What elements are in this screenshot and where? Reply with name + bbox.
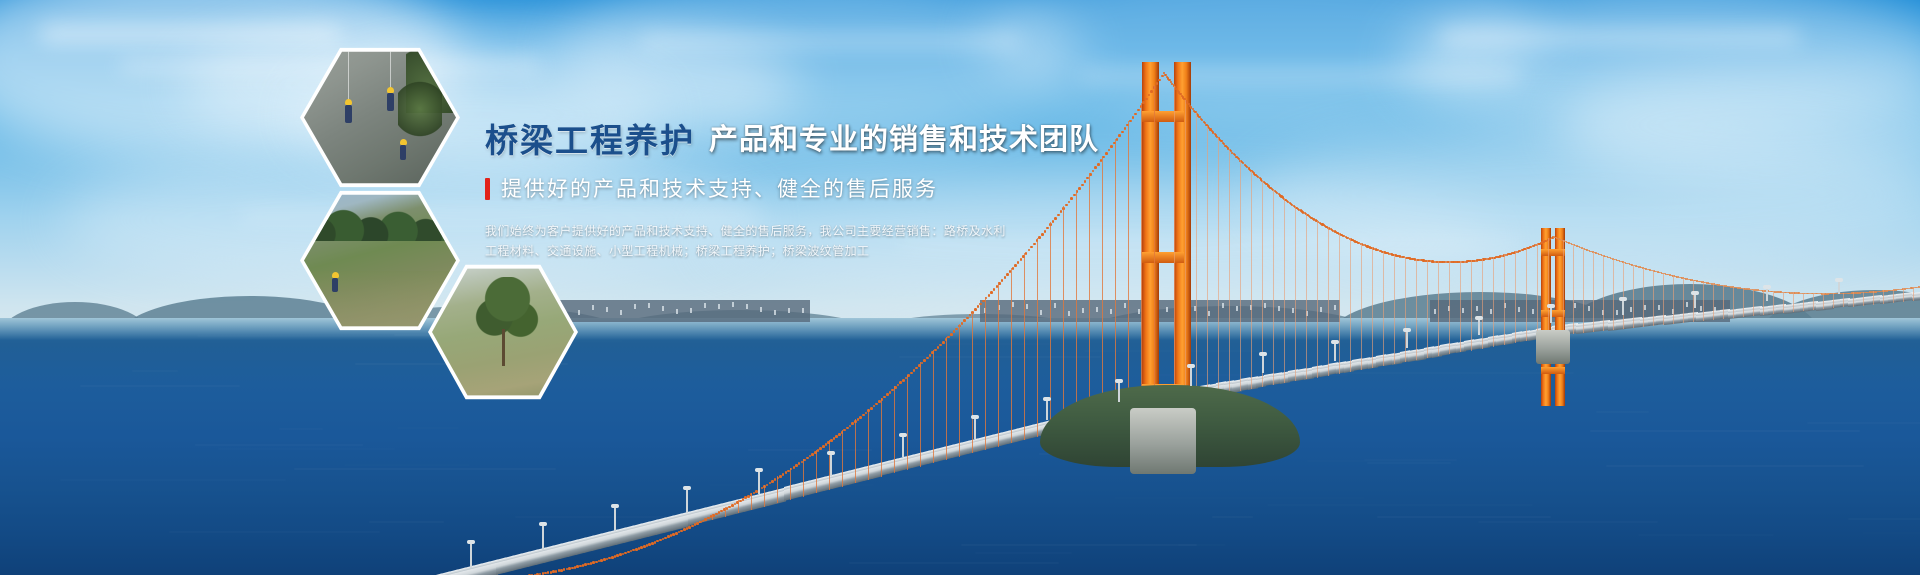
bridge-main-cable bbox=[939, 344, 942, 347]
bridge-lamp-post bbox=[1334, 343, 1336, 360]
bridge-hanger bbox=[1593, 252, 1594, 332]
bridge-lamp-post bbox=[1694, 294, 1696, 308]
bridge-lamp-post bbox=[1766, 288, 1768, 301]
bridge-hanger bbox=[1240, 160, 1241, 391]
bridge-main-cable bbox=[1017, 261, 1020, 264]
bridge-hanger bbox=[764, 485, 765, 507]
treeline-shape bbox=[304, 206, 456, 242]
bridge-hanger bbox=[1643, 268, 1644, 327]
bridge-main-cable bbox=[990, 291, 993, 294]
bridge-hanger bbox=[1526, 247, 1527, 341]
bridge-hanger bbox=[1306, 214, 1307, 380]
bridge-hanger bbox=[1295, 206, 1296, 381]
bridge-main-cable bbox=[1014, 264, 1017, 267]
bridge-hanger bbox=[1853, 292, 1854, 306]
hero-banner: 桥梁工程养护 产品和专业的销售和技术团队 提供好的产品和技术支持、健全的售后服务… bbox=[0, 0, 1920, 575]
bridge-hanger bbox=[1703, 282, 1704, 322]
bridge-main-cable bbox=[1150, 90, 1153, 93]
bridge-hanger bbox=[1141, 103, 1142, 410]
bridge-hanger bbox=[1893, 289, 1894, 302]
bridge-main-cable bbox=[937, 346, 940, 349]
bridge-lamp-post bbox=[974, 418, 976, 439]
grass-slope-mesh-photo bbox=[432, 266, 574, 398]
bridge-hanger bbox=[1251, 171, 1252, 390]
tower-crossbeam bbox=[1142, 111, 1184, 122]
bridge-hanger bbox=[855, 419, 856, 483]
bridge-main-cable bbox=[822, 445, 825, 448]
bridge-hanger bbox=[1350, 238, 1351, 371]
bridge-hanger bbox=[881, 398, 882, 477]
heading-secondary: 产品和专业的销售和技术团队 bbox=[709, 126, 1099, 157]
bridge-main-cable bbox=[950, 333, 953, 336]
bridge-lamp-post bbox=[1190, 367, 1192, 386]
bridge-hanger bbox=[751, 493, 752, 510]
tower-crossbeam bbox=[1142, 252, 1184, 263]
bridge-main-cable bbox=[846, 427, 849, 430]
bridge-hanger bbox=[1174, 86, 1175, 402]
tower-crossbeam bbox=[1541, 367, 1565, 374]
bridge-hanger bbox=[816, 450, 817, 494]
bridge-hanger bbox=[1833, 293, 1834, 309]
bridge-hanger bbox=[1763, 290, 1764, 315]
bridge-lamp-post bbox=[830, 454, 832, 476]
bridge-hanger bbox=[1128, 121, 1129, 413]
bridge-hanger bbox=[1471, 260, 1472, 351]
bridge-main-cable bbox=[862, 414, 865, 417]
bridge-hanger bbox=[1037, 238, 1038, 437]
bridge-lamp-post bbox=[1046, 400, 1048, 420]
bridge-hanger bbox=[1723, 285, 1724, 319]
bridge-main-cable bbox=[977, 305, 980, 308]
bridge-hanger bbox=[1196, 113, 1197, 399]
bridge-main-cable bbox=[1142, 101, 1145, 104]
hex-photo-card-3[interactable] bbox=[428, 262, 578, 402]
bridge-main-cable bbox=[926, 357, 929, 360]
bridge-hanger bbox=[803, 459, 804, 497]
bridge-hanger bbox=[1537, 243, 1538, 339]
bridge-main-cable bbox=[974, 308, 977, 311]
bridge-hanger bbox=[946, 337, 947, 460]
bridge-hanger bbox=[1653, 270, 1654, 326]
bridge-hanger bbox=[712, 514, 713, 520]
bridge-hanger bbox=[1229, 149, 1230, 393]
bridge-main-cable bbox=[915, 367, 918, 370]
bridge-lamp-post bbox=[1622, 300, 1624, 315]
bridge-main-cable bbox=[942, 341, 945, 344]
bridge-hanger bbox=[1185, 100, 1186, 401]
bridge-hanger bbox=[1753, 289, 1754, 316]
bridge-main-cable bbox=[993, 288, 996, 291]
bridge-hanger bbox=[1803, 293, 1804, 312]
bridge-main-cable bbox=[870, 407, 873, 410]
bridge-main-cable bbox=[1124, 127, 1127, 130]
bridge-hanger bbox=[1873, 291, 1874, 304]
banner-text-block: 桥梁工程养护 产品和专业的销售和技术团队 提供好的产品和技术支持、健全的售后服务… bbox=[485, 124, 1105, 261]
bridge-lamp-post bbox=[1262, 355, 1264, 373]
bridge-main-cable bbox=[851, 422, 854, 425]
bridge-hanger bbox=[1813, 293, 1814, 310]
bridge-main-cable bbox=[955, 328, 958, 331]
bridge-lamp-post bbox=[686, 489, 688, 512]
bridge-hanger bbox=[1793, 292, 1794, 312]
bridge-main-cable bbox=[889, 391, 892, 394]
bridge-hanger bbox=[1218, 138, 1219, 395]
bridge-lamp-post bbox=[1406, 331, 1408, 348]
banner-heading: 桥梁工程养护 产品和专业的销售和技术团队 bbox=[485, 124, 1105, 157]
worker-figure bbox=[332, 278, 338, 292]
bridge-main-cable bbox=[1145, 98, 1148, 101]
rock-slope-mesh-photo bbox=[304, 49, 456, 186]
hex-image-mask bbox=[432, 266, 574, 398]
trunk-shape bbox=[502, 329, 505, 366]
bridge-hanger bbox=[1284, 198, 1285, 383]
bridge-lamp-post bbox=[1838, 281, 1840, 294]
bridge-main-cable bbox=[966, 317, 969, 320]
bridge-hanger bbox=[1633, 265, 1634, 328]
bridge-hanger bbox=[1613, 258, 1614, 329]
bridge-hanger bbox=[842, 430, 843, 487]
bridge-hanger bbox=[894, 386, 895, 473]
bridge-main-cable bbox=[843, 429, 846, 432]
bridge-hanger bbox=[1663, 273, 1664, 325]
banner-subheading-row: 提供好的产品和技术支持、健全的售后服务 bbox=[485, 178, 1105, 200]
bridge-lamp-post bbox=[1118, 382, 1120, 401]
bridge-hanger bbox=[1273, 190, 1274, 386]
bridge-main-cable bbox=[865, 412, 868, 415]
bridge-hanger bbox=[1548, 238, 1549, 337]
bridge-hanger bbox=[1683, 278, 1684, 324]
tower-crossbeam bbox=[1541, 310, 1565, 317]
worker-figure bbox=[400, 145, 406, 160]
bridge-lamp-post bbox=[758, 471, 760, 494]
bridge-hanger bbox=[1115, 139, 1116, 417]
bridge-pier-far bbox=[1536, 330, 1570, 364]
bridge-hanger bbox=[1823, 293, 1824, 309]
bridge-lamp-post bbox=[1478, 319, 1480, 335]
bridge-hanger bbox=[1743, 288, 1744, 317]
bridge-hanger bbox=[725, 507, 726, 516]
bridge-lamp-post bbox=[614, 507, 616, 531]
bridge-main-cable bbox=[1108, 149, 1111, 152]
bridge-hanger bbox=[1460, 261, 1461, 353]
bridge-main-cable bbox=[961, 322, 964, 325]
bridge-hanger bbox=[1713, 283, 1714, 320]
suspension-bridge bbox=[0, 0, 1920, 575]
bridge-hanger bbox=[1394, 254, 1395, 364]
bridge-hanger bbox=[998, 282, 999, 446]
bridge-main-cable bbox=[929, 354, 932, 357]
bridge-hanger bbox=[1011, 268, 1012, 443]
bridge-hanger bbox=[1154, 85, 1155, 407]
bridge-main-cable bbox=[1105, 152, 1108, 155]
bridge-hanger bbox=[1913, 287, 1914, 301]
bridge-hanger bbox=[1317, 221, 1318, 378]
bridge-main-cable bbox=[782, 473, 785, 476]
bridge-hanger bbox=[1583, 248, 1584, 333]
heading-primary: 桥梁工程养护 bbox=[485, 124, 695, 157]
bridge-main-cable bbox=[963, 319, 966, 322]
body-line-1: 我们始终为客户提供好的产品和技术支持、健全的售后服务，我公司主要经营销售：路桥及… bbox=[485, 221, 805, 241]
bridge-main-cable bbox=[883, 396, 886, 399]
bridge-main-cable bbox=[1118, 134, 1121, 137]
hex-image-mask bbox=[304, 49, 456, 186]
banner-body-text: 我们始终为客户提供好的产品和技术支持、健全的售后服务，我公司主要经营销售：路桥及… bbox=[485, 221, 805, 261]
bridge-hanger bbox=[933, 350, 934, 463]
bridge-hanger bbox=[1438, 261, 1439, 357]
bridge-hanger bbox=[1482, 259, 1483, 349]
red-accent-bar bbox=[485, 178, 490, 200]
bridge-main-cable bbox=[875, 403, 878, 406]
bridge-main-cable bbox=[947, 336, 950, 339]
bridge-main-cable bbox=[913, 369, 916, 372]
bridge-hanger bbox=[907, 375, 908, 470]
bridge-main-cable bbox=[953, 330, 956, 333]
bridge-main-cable bbox=[988, 294, 991, 297]
bridge-main-cable bbox=[1132, 116, 1135, 119]
body-line-2: 工程材料、交通设施、小型工程机械；桥梁工程养护；桥梁波纹管加工 bbox=[485, 241, 805, 261]
bridge-main-cable bbox=[902, 379, 905, 382]
bridge-main-cable bbox=[923, 359, 926, 362]
tower-crossbeam bbox=[1541, 249, 1565, 256]
shrub-shape bbox=[475, 277, 540, 351]
bridge-hanger bbox=[738, 500, 739, 513]
bridge-hanger bbox=[1328, 227, 1329, 375]
bridge-hanger bbox=[1504, 254, 1505, 345]
bridge-hanger bbox=[1361, 243, 1362, 370]
bridge-hanger bbox=[972, 311, 973, 454]
bridge-main-cable bbox=[1134, 113, 1137, 116]
bridge-main-cable bbox=[1004, 276, 1007, 279]
bridge-main-cable bbox=[1121, 131, 1124, 134]
bridge-pier-main bbox=[1130, 408, 1196, 474]
bridge-main-cable bbox=[1110, 145, 1113, 148]
bridge-main-cable bbox=[910, 372, 913, 375]
bridge-main-cable bbox=[921, 362, 924, 365]
hex-photo-card-1[interactable] bbox=[300, 45, 460, 190]
bridge-hanger bbox=[1493, 257, 1494, 347]
bridge-hanger bbox=[1733, 287, 1734, 319]
bridge-hanger bbox=[790, 468, 791, 500]
bridge-lamp-post bbox=[470, 543, 472, 568]
bridge-main-cable bbox=[1001, 279, 1004, 282]
bridge-hanger bbox=[920, 362, 921, 466]
bridge-lamp-post bbox=[542, 525, 544, 550]
bridge-main-cable bbox=[873, 405, 876, 408]
bridge-hanger bbox=[1903, 288, 1904, 301]
rope-line bbox=[348, 49, 349, 105]
bridge-hanger bbox=[959, 324, 960, 457]
bridge-main-cable bbox=[1116, 138, 1119, 141]
bridge-lamp-post bbox=[902, 436, 904, 457]
vegetation-shape bbox=[398, 79, 442, 139]
bridge-hanger bbox=[1339, 233, 1340, 374]
bridge-hanger bbox=[1673, 275, 1674, 324]
bridge-hanger bbox=[1449, 261, 1450, 354]
bridge-hanger bbox=[1773, 291, 1774, 314]
bridge-main-cable bbox=[806, 457, 809, 460]
bridge-main-cable bbox=[979, 303, 982, 306]
worker-figure bbox=[387, 93, 394, 111]
bridge-hanger bbox=[1843, 293, 1844, 308]
bridge-main-cable bbox=[849, 425, 852, 428]
bridge-hanger bbox=[777, 476, 778, 503]
bridge-hanger bbox=[868, 409, 869, 480]
bridge-hanger bbox=[1573, 244, 1574, 334]
bridge-main-cable bbox=[798, 462, 801, 465]
bridge-hanger bbox=[1372, 247, 1373, 367]
bridge-main-cable bbox=[899, 381, 902, 384]
bridge-main-cable bbox=[897, 384, 900, 387]
bridge-main-cable bbox=[859, 416, 862, 419]
bridge-hanger bbox=[1603, 255, 1604, 331]
bridge-lamp-post bbox=[1550, 307, 1552, 322]
bridge-hanger bbox=[1416, 259, 1417, 361]
bridge-main-cable bbox=[886, 393, 889, 396]
bridge-hanger bbox=[1515, 251, 1516, 343]
banner-subheading: 提供好的产品和技术支持、健全的售后服务 bbox=[501, 179, 938, 200]
bridge-hanger bbox=[1024, 253, 1025, 440]
bridge-hanger bbox=[1863, 292, 1864, 306]
bridge-main-cable bbox=[1006, 273, 1009, 276]
bridge-hanger bbox=[699, 521, 700, 523]
bridge-main-cable bbox=[766, 484, 769, 487]
bridge-hanger bbox=[1207, 126, 1208, 397]
bridge-hanger bbox=[1383, 251, 1384, 366]
bridge-hanger bbox=[1623, 262, 1624, 329]
bridge-hanger bbox=[1563, 240, 1564, 335]
bridge-hanger bbox=[1883, 290, 1884, 303]
bridge-hanger bbox=[1783, 292, 1784, 314]
bridge-hanger bbox=[985, 297, 986, 450]
bridge-main-cable bbox=[934, 349, 937, 352]
worker-figure bbox=[345, 105, 352, 123]
bridge-hanger bbox=[1427, 260, 1428, 358]
